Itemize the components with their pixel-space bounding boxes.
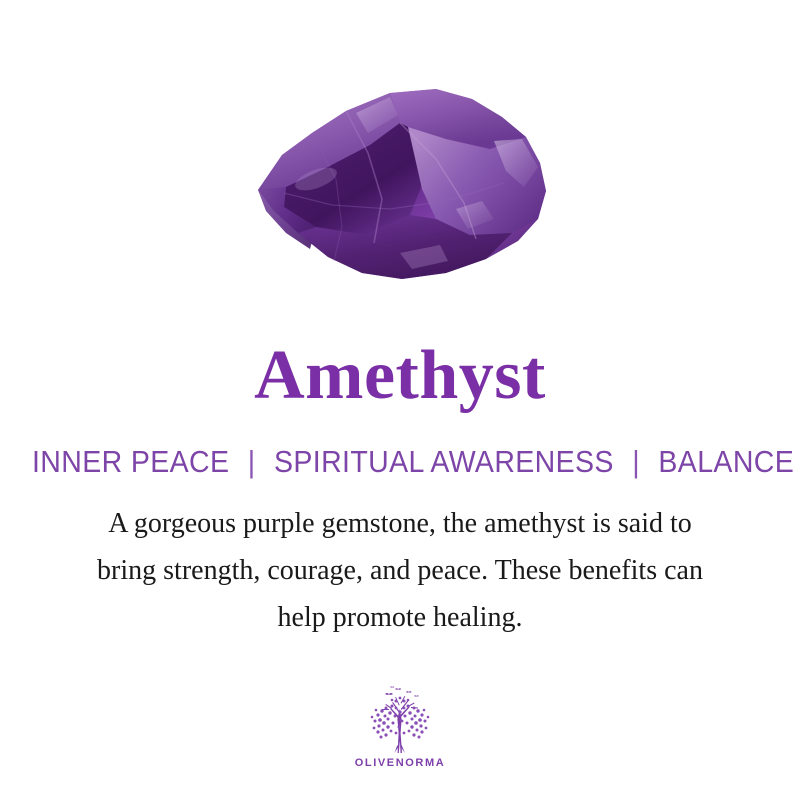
raw-amethyst-crystal-image xyxy=(250,83,550,288)
keyword-balance: BALANCE xyxy=(658,444,794,479)
keyword-separator: | xyxy=(248,443,256,481)
tree-logo-icon xyxy=(361,683,439,755)
birds-icon xyxy=(385,686,419,696)
description-line-3: help promote healing. xyxy=(70,594,730,641)
description-line-1: A gorgeous purple gemstone, the amethyst… xyxy=(70,500,730,547)
brand-logo: OLIVENORMA xyxy=(0,683,800,769)
description-line-2: bring strength, courage, and peace. Thes… xyxy=(70,547,730,594)
page-title: Amethyst xyxy=(0,336,800,416)
keyword-list: INNER PEACE | SPIRITUAL AWARENESS | BALA… xyxy=(32,443,768,481)
gemstone-image-container xyxy=(0,78,800,293)
keyword-inner-peace: INNER PEACE xyxy=(32,444,229,479)
product-info-card: Amethyst INNER PEACE | SPIRITUAL AWARENE… xyxy=(0,0,800,800)
description-text: A gorgeous purple gemstone, the amethyst… xyxy=(70,500,730,641)
keyword-spiritual-awareness: SPIRITUAL AWARENESS xyxy=(274,444,614,479)
brand-name: OLIVENORMA xyxy=(355,757,446,769)
keyword-separator: | xyxy=(632,443,640,481)
